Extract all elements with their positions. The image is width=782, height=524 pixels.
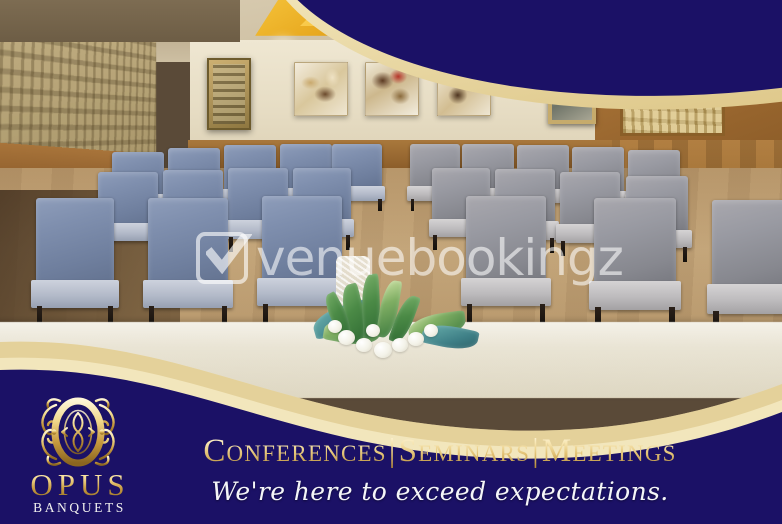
chair-leg xyxy=(550,238,554,253)
framed-artwork-canvas xyxy=(213,64,245,124)
chair-leg xyxy=(433,235,437,249)
chair-leg xyxy=(378,199,382,211)
chair-back xyxy=(148,198,228,285)
abstract-painting xyxy=(294,62,348,116)
left-wall-framed-artwork xyxy=(207,58,251,130)
chair-leg xyxy=(229,237,233,252)
chair-leg xyxy=(683,247,687,262)
headline-conferences: Conferences xyxy=(203,433,386,469)
opus-o-monogram-icon xyxy=(22,393,134,471)
opus-logo[interactable]: OPUS BANQUETS xyxy=(22,393,134,516)
chair-leg xyxy=(346,235,350,249)
chair-back xyxy=(712,200,782,290)
venue-promo-card: venuebookingz xyxy=(0,0,782,524)
headline-seminars: Seminars xyxy=(399,433,530,469)
chair-back xyxy=(594,198,676,286)
headline-meetings: Meetings xyxy=(542,433,677,469)
banner-content: OPUS BANQUETS Conferences|Seminars|Meeti… xyxy=(0,379,782,524)
chair-leg xyxy=(561,241,565,256)
chair-leg xyxy=(411,199,415,211)
brand-subtitle: BANQUETS xyxy=(22,501,134,516)
chair-back xyxy=(36,198,114,285)
left-wall-top-trim xyxy=(0,0,240,42)
headline-separator: | xyxy=(387,433,399,469)
banner-headline: Conferences|Seminars|Meetings xyxy=(140,433,740,470)
headline-separator: | xyxy=(530,433,542,469)
brand-name: OPUS xyxy=(22,469,134,502)
banner-tagline: We're here to exceed expectations. xyxy=(140,477,740,506)
